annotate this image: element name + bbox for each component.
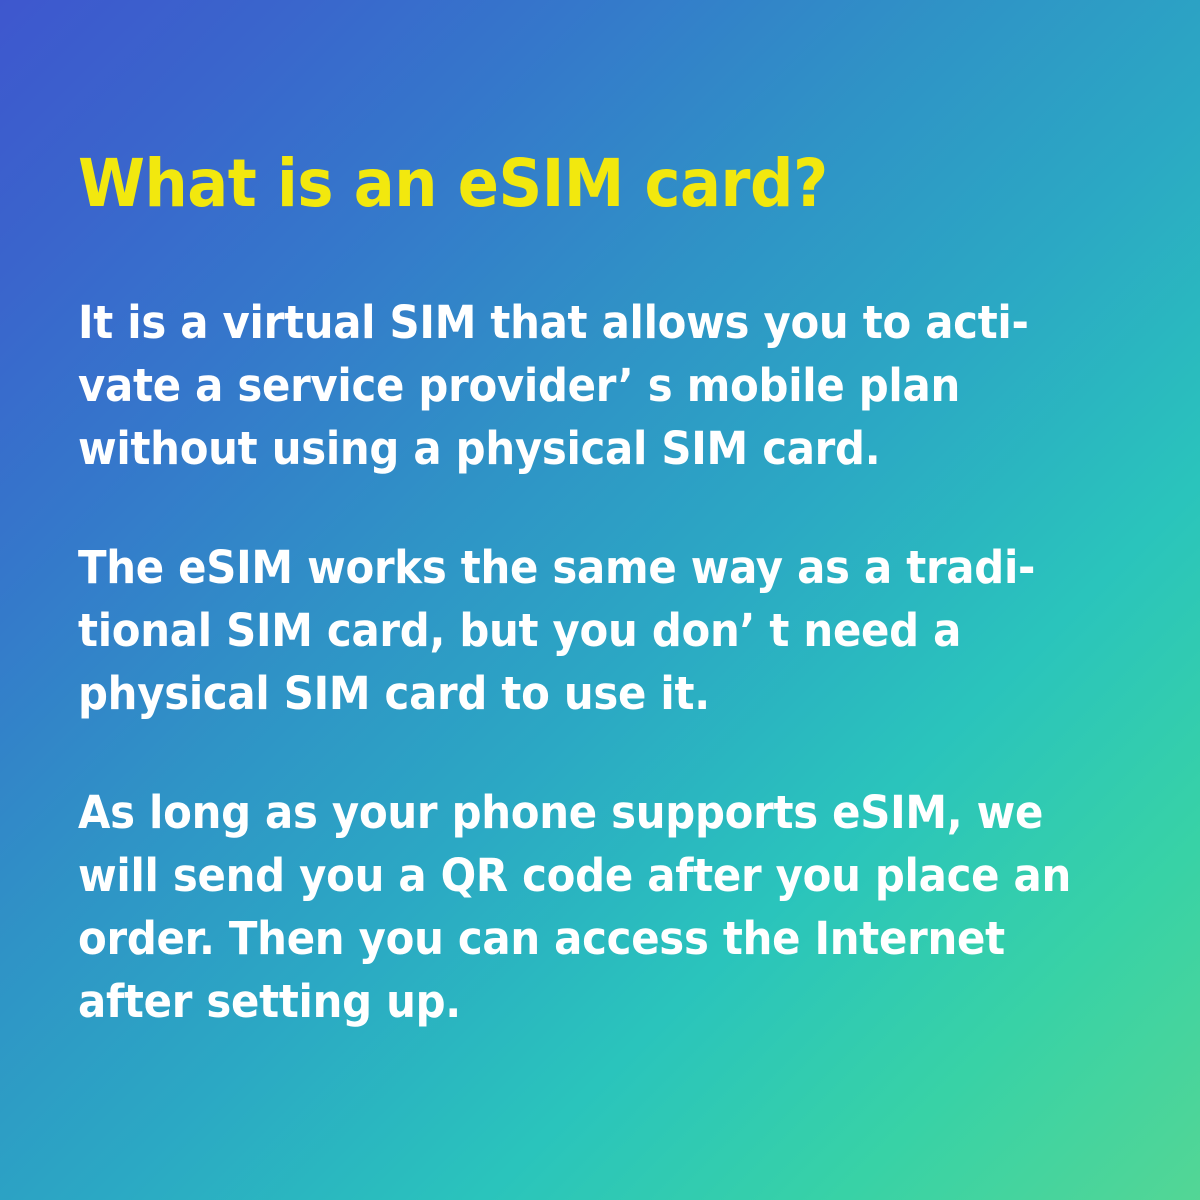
text-line: tional SIM card, but you don’ t need a — [78, 599, 999, 662]
text-line: order. Then you can access the Internet — [78, 907, 999, 970]
paragraph-definition: It is a virtual SIM that allows you to a… — [78, 291, 999, 480]
paragraph-activation: As long as your phone supports eSIM, we … — [78, 781, 999, 1033]
text-line: As long as your phone supports eSIM, we — [78, 781, 999, 844]
text-line: physical SIM card to use it. — [78, 662, 999, 725]
text-line: The eSIM works the same way as a tradi- — [78, 536, 999, 599]
text-line: without using a physical SIM card. — [78, 417, 999, 480]
paragraph-how-it-works: The eSIM works the same way as a tradi- … — [78, 536, 999, 725]
body-copy: It is a virtual SIM that allows you to a… — [78, 291, 1068, 1033]
text-line: will send you a QR code after you place … — [78, 844, 999, 907]
poster-content: What is an eSIM card? It is a virtual SI… — [78, 150, 1068, 1033]
page-title: What is an eSIM card? — [78, 150, 989, 219]
text-line: It is a virtual SIM that allows you to a… — [78, 291, 999, 354]
esim-info-poster: What is an eSIM card? It is a virtual SI… — [0, 0, 1200, 1200]
text-line: after setting up. — [78, 970, 999, 1033]
text-line: vate a service provider’ s mobile plan — [78, 354, 999, 417]
